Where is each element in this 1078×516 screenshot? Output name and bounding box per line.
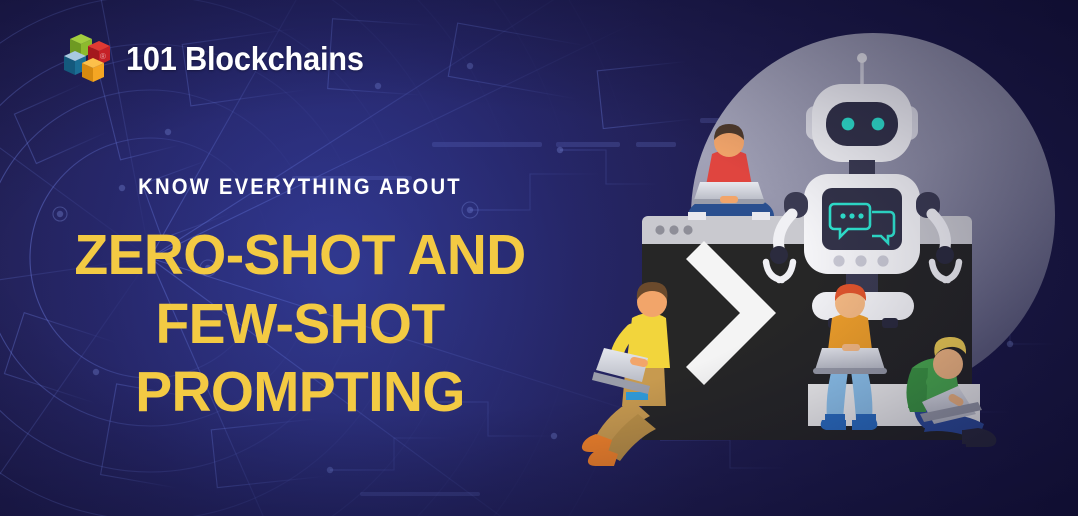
headline-line-3: PROMPTING (71, 359, 529, 426)
headline-block: KNOW EVERYTHING ABOUT ZERO-SHOT AND FEW-… (64, 176, 536, 426)
hero-illustration (560, 0, 1078, 516)
registered-mark: ® (100, 52, 106, 61)
cube-orange (82, 58, 104, 82)
headline-kicker: KNOW EVERYTHING ABOUT (83, 176, 517, 198)
promo-banner: 101 Blockchains ® KNOW EVERYTHING ABOUT … (0, 0, 1078, 516)
headline-line-2: FEW-SHOT (71, 291, 529, 358)
headline-line-1: ZERO-SHOT AND (71, 222, 529, 289)
brand-name: 101 Blockchains (126, 40, 364, 78)
